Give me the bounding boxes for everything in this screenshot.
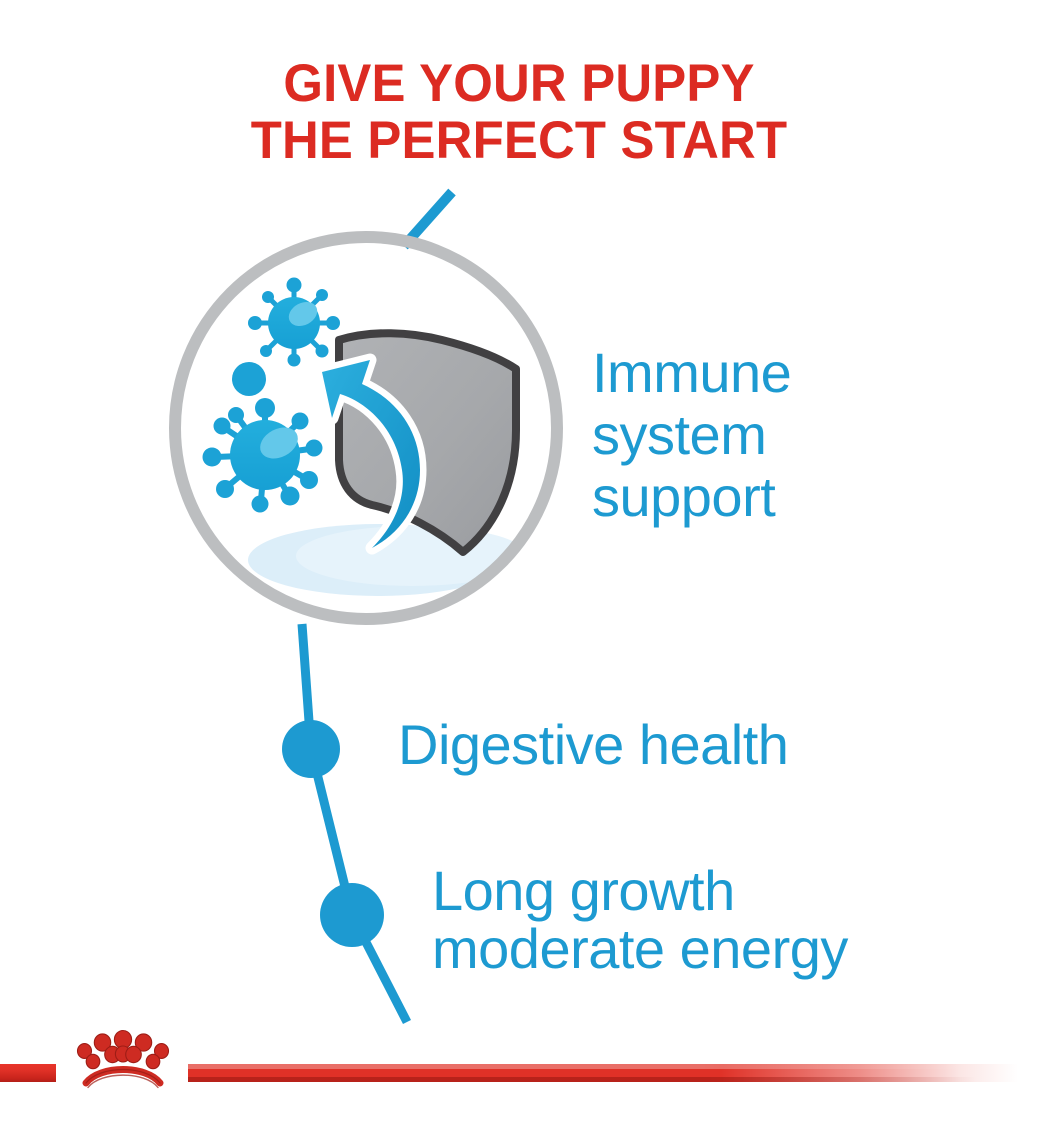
benefit-line: Digestive health: [398, 713, 788, 776]
benefit-line: support: [592, 465, 775, 528]
germ-highlight: [255, 421, 303, 465]
headline-line-1: GIVE YOUR PUPPY: [283, 54, 754, 113]
germ-dot-icon: [232, 362, 266, 396]
connector-top-stub: [404, 192, 452, 246]
benefit-label-immune-system-support: Immune system support: [592, 342, 791, 528]
headline-line-2: THE PERFECT START: [251, 111, 788, 170]
infographic-canvas: GIVE YOUR PUPPY THE PERFECT START: [0, 0, 1038, 1145]
germ-icon-lower: [203, 398, 323, 513]
footer-bar-right-segment: [188, 1064, 1018, 1082]
benefit-line: moderate energy: [432, 917, 848, 980]
bullet-node-growth[interactable]: [320, 883, 384, 947]
benefit-label-digestive-health: Digestive health: [398, 714, 788, 776]
protection-arrow-icon: [322, 360, 420, 548]
benefit-line: Long growth: [432, 859, 735, 922]
benefit-label-long-growth-moderate-energy: Long growth moderate energy: [432, 862, 848, 978]
shield-icon: [339, 333, 516, 552]
footer-bar-left-segment: [0, 1064, 56, 1082]
benefit-line: Immune: [592, 341, 791, 404]
page-title: GIVE YOUR PUPPY THE PERFECT START: [21, 56, 1017, 169]
benefit-line: system: [592, 403, 766, 466]
germ-highlight: [285, 297, 322, 331]
circle-ring: [175, 237, 557, 619]
germ-icon-upper: [248, 278, 340, 367]
connector-main-path: [302, 624, 407, 1022]
royal-canin-crown-logo: [62, 1027, 184, 1095]
ground-shadow: [248, 524, 528, 596]
bullet-node-digestive[interactable]: [282, 720, 340, 778]
